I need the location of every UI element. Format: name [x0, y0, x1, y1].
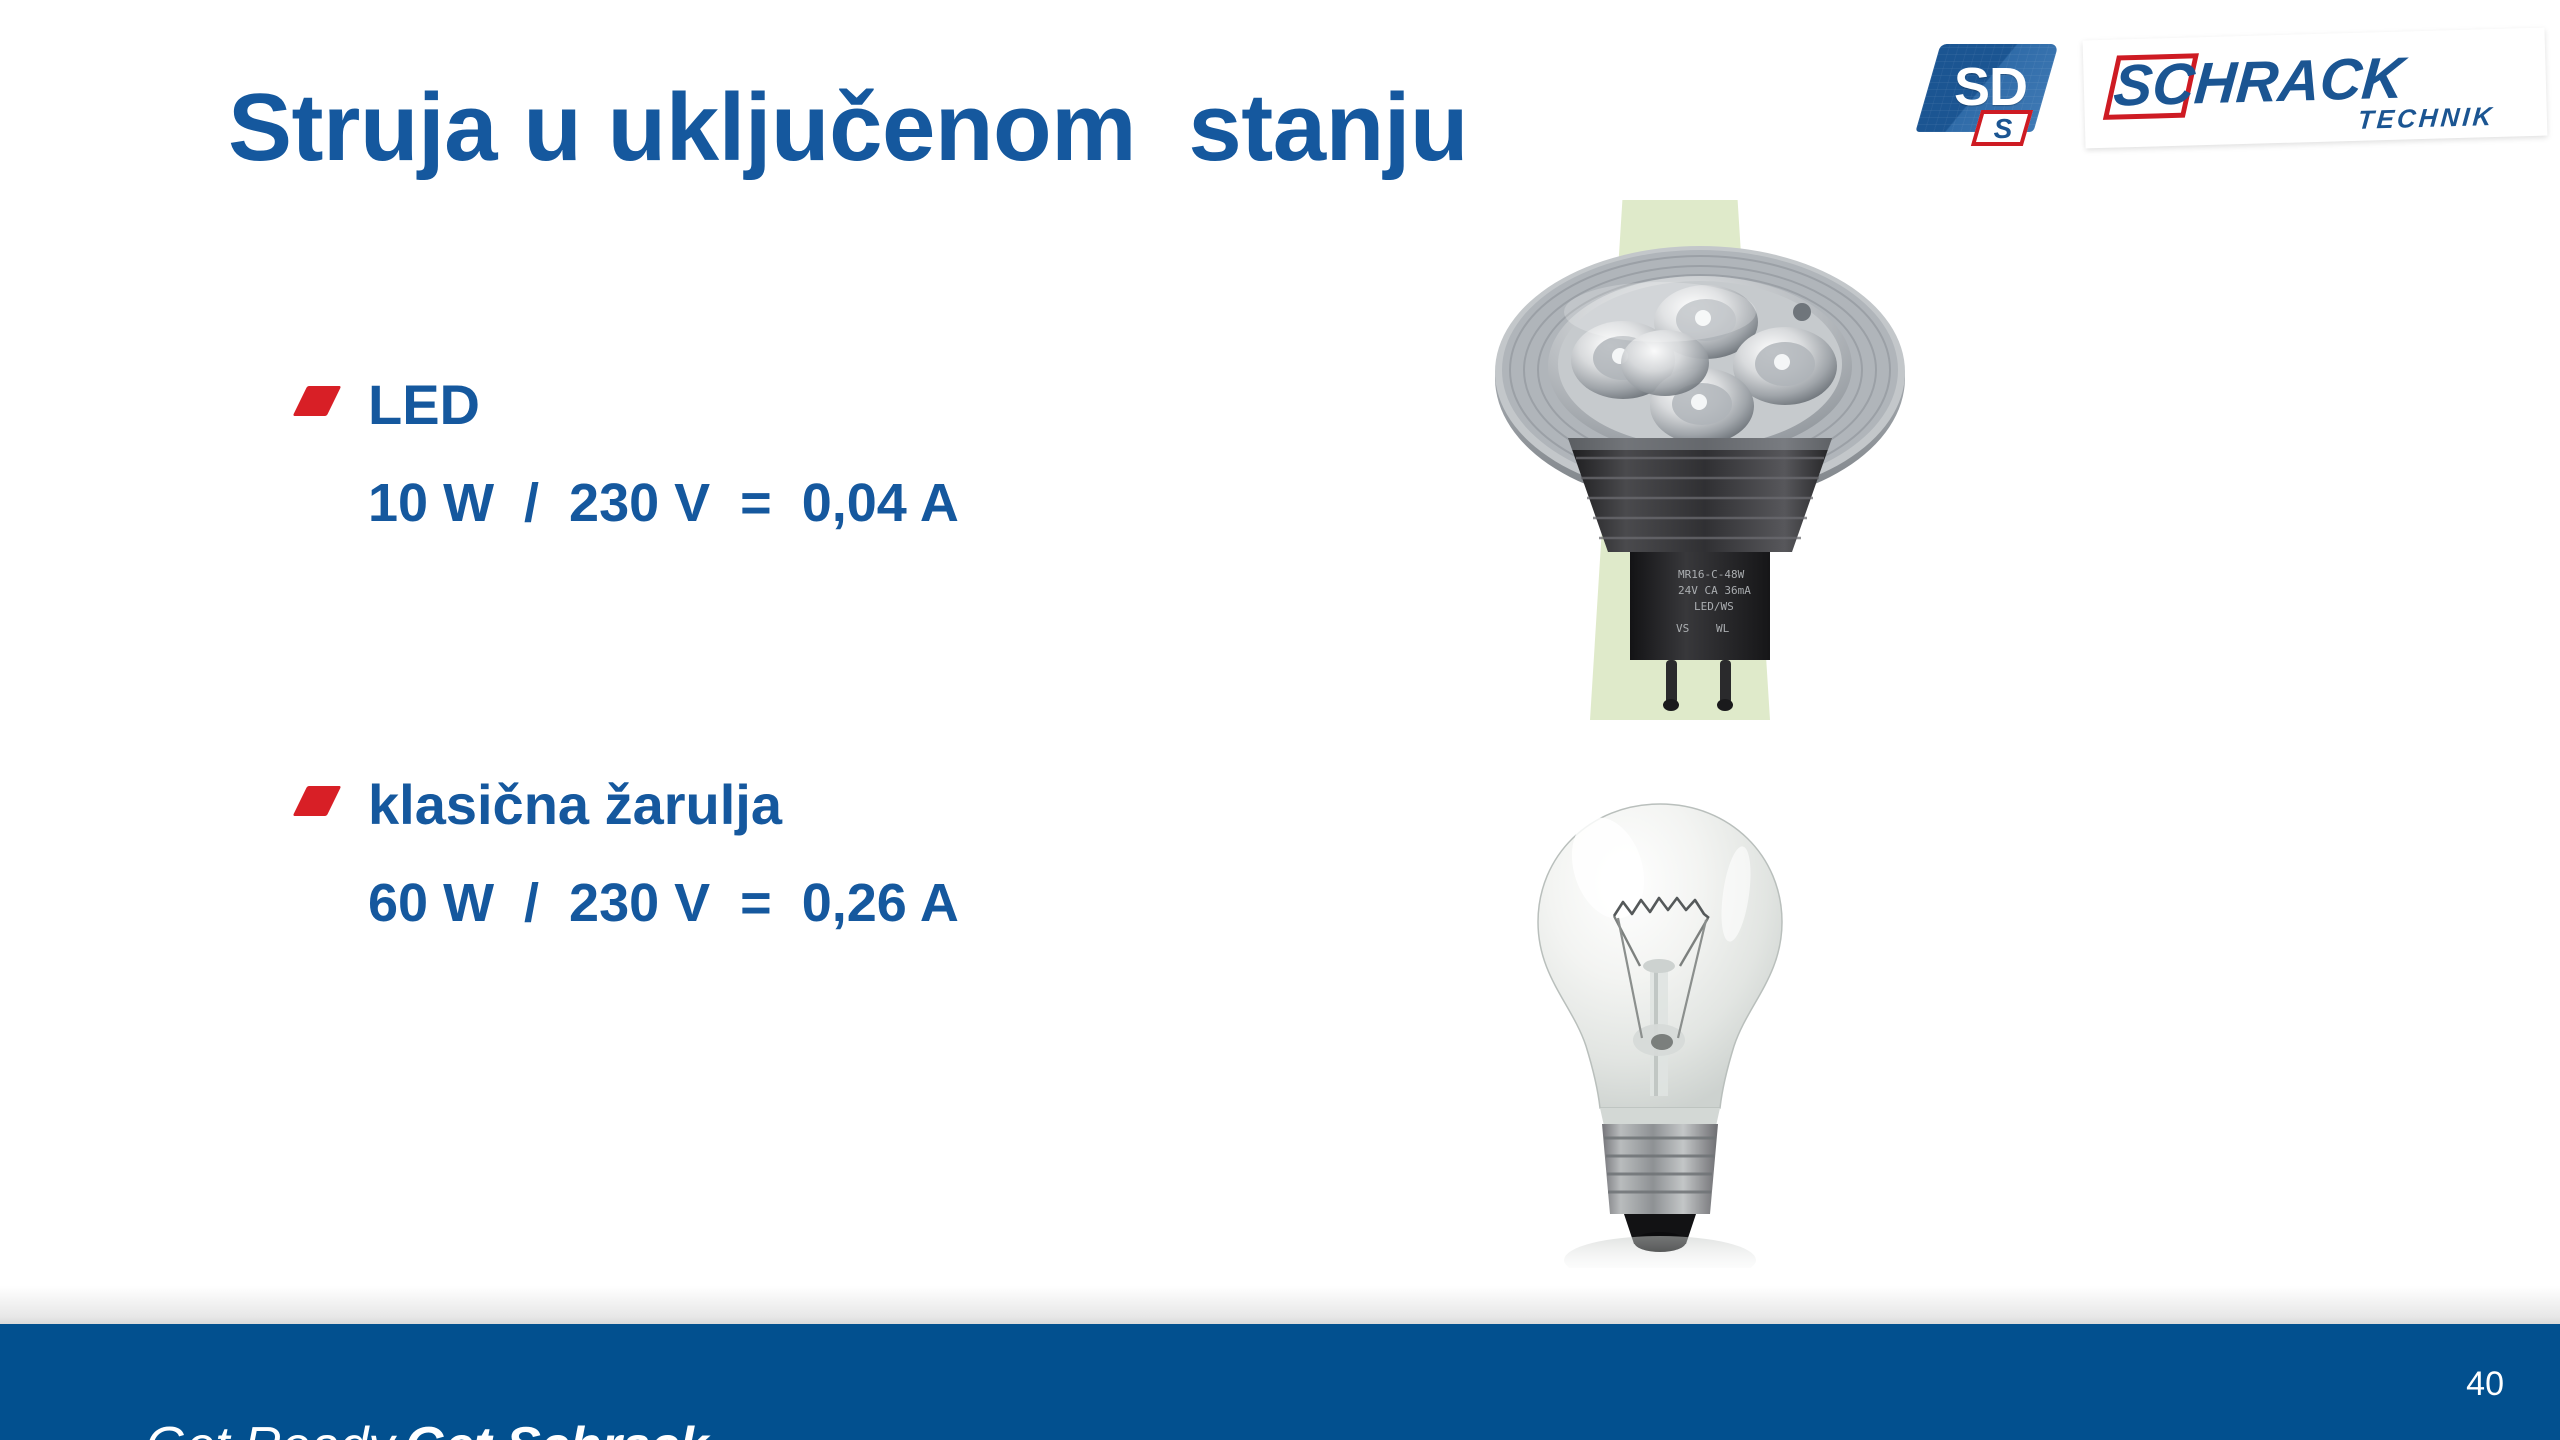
page-number: 40	[2466, 1364, 2504, 1404]
svg-text:WL: WL	[1716, 622, 1730, 635]
svg-text:24V CA 36mA: 24V CA 36mA	[1678, 584, 1751, 597]
formula-led: 10 W / 230 V = 0,04 A	[368, 470, 959, 536]
led-lamp-image: MR16-C-48W 24V CA 36mA LED/WS VS WL	[1480, 200, 1920, 730]
svg-text:MR16-C-48W: MR16-C-48W	[1678, 568, 1745, 581]
bullet-group-incandescent: klasična žarulja 60 W / 230 V = 0,26 A	[300, 772, 1300, 842]
sd-logo-text: SD	[1954, 60, 2027, 114]
bullet-label-incandescent: klasična žarulja	[368, 772, 782, 838]
formula-incandescent: 60 W / 230 V = 0,26 A	[368, 870, 959, 936]
bullet-label-led: LED	[368, 372, 480, 438]
tagline-get-ready: Get Ready.	[146, 1417, 405, 1440]
led-lamp-illustration: MR16-C-48W 24V CA 36mA LED/WS VS WL	[1480, 200, 1920, 730]
bullet-group-led: LED 10 W / 230 V = 0,04 A	[300, 372, 1300, 442]
brand-logo-block: SD S SCHRACK TECHNIK	[1928, 22, 2548, 150]
footer-gradient-strip	[0, 1268, 2560, 1324]
schrack-logo-card: SCHRACK TECHNIK	[2083, 28, 2548, 149]
parallelogram-bullet-icon	[293, 386, 342, 416]
tagline-get-schrack: Get Schrack.	[405, 1417, 723, 1440]
schrack-logo-inner: SCHRACK TECHNIK	[2083, 28, 2548, 149]
parallelogram-bullet-icon	[293, 786, 342, 816]
bullet-row: klasična žarulja	[300, 772, 1300, 842]
page-title: Struja u uključenom stanju	[228, 78, 1468, 179]
footer-tagline: Get Ready.Get Schrack.	[88, 1350, 723, 1440]
svg-text:VS: VS	[1676, 622, 1689, 635]
s-badge-label: S	[1986, 114, 2020, 144]
slide-canvas: Struja u uključenom stanju SD S SCHRACK …	[0, 0, 2560, 1440]
svg-text:LED/WS: LED/WS	[1694, 600, 1734, 613]
bullet-row: LED	[300, 372, 1300, 442]
incandescent-bulb-image	[1490, 790, 1830, 1290]
schrack-subbrand: TECHNIK	[2357, 103, 2496, 133]
